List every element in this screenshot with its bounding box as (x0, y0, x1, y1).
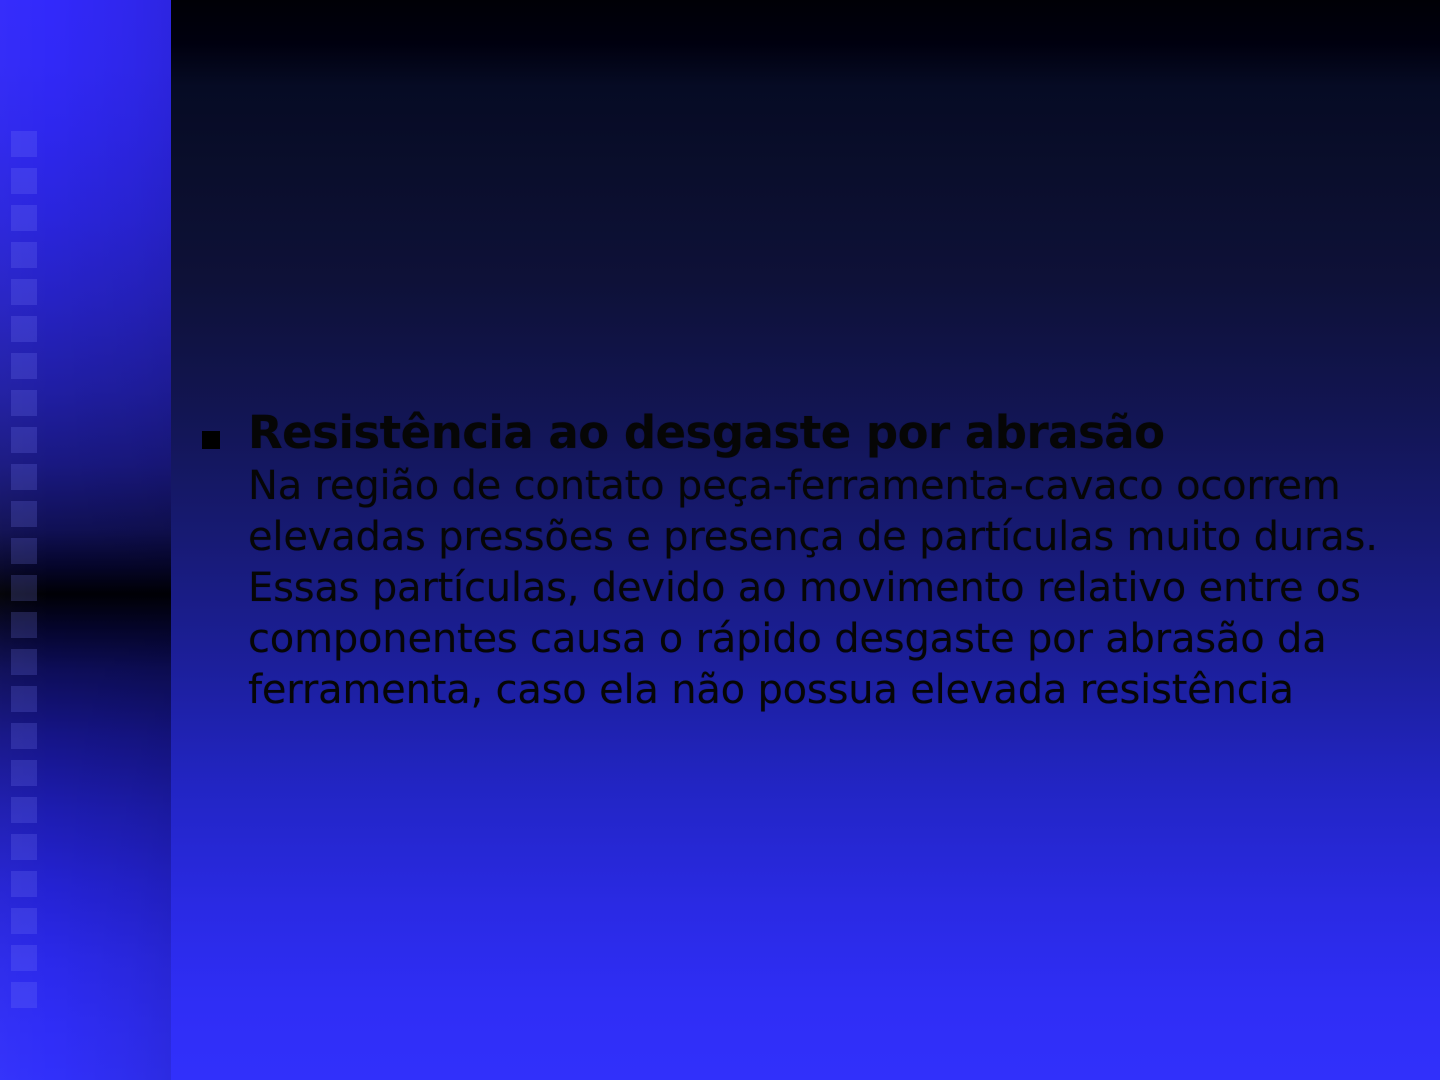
sidebar-decoration-square (11, 723, 37, 749)
bullet-item: Resistência ao desgaste por abrasão Na r… (198, 405, 1408, 716)
bullet-body-text: Na região de contato peça-ferramenta-cav… (248, 463, 1378, 713)
slide-content: Resistência ao desgaste por abrasão Na r… (198, 405, 1408, 716)
sidebar-decoration-square (11, 501, 37, 527)
sidebar-decoration-square (11, 982, 37, 1008)
slide-canvas: Resistência ao desgaste por abrasão Na r… (0, 0, 1440, 1080)
sidebar-decoration-square (11, 686, 37, 712)
sidebar-decoration-square (11, 871, 37, 897)
sidebar-decoration-square (11, 834, 37, 860)
sidebar-decoration-square (11, 131, 37, 157)
sidebar-decoration-square (11, 575, 37, 601)
bullet-square-icon (202, 431, 220, 449)
sidebar-decoration-square (11, 427, 37, 453)
sidebar-decoration-square (11, 908, 37, 934)
sidebar-decoration-square (11, 612, 37, 638)
sidebar-decoration-square (11, 205, 37, 231)
sidebar-decoration-square (11, 797, 37, 823)
bullet-paragraph: Resistência ao desgaste por abrasão Na r… (248, 405, 1408, 716)
sidebar-decoration-square (11, 538, 37, 564)
sidebar-decoration-square (11, 945, 37, 971)
bullet-heading: Resistência ao desgaste por abrasão (248, 406, 1165, 459)
sidebar-square-column (11, 131, 37, 1011)
sidebar-decoration-square (11, 649, 37, 675)
sidebar-decoration-square (11, 353, 37, 379)
sidebar-decoration-square (11, 279, 37, 305)
sidebar-decoration-square (11, 168, 37, 194)
sidebar-decoration-square (11, 390, 37, 416)
sidebar-decoration-square (11, 464, 37, 490)
sidebar-decoration-square (11, 760, 37, 786)
sidebar-decoration-square (11, 242, 37, 268)
sidebar-decoration-square (11, 316, 37, 342)
